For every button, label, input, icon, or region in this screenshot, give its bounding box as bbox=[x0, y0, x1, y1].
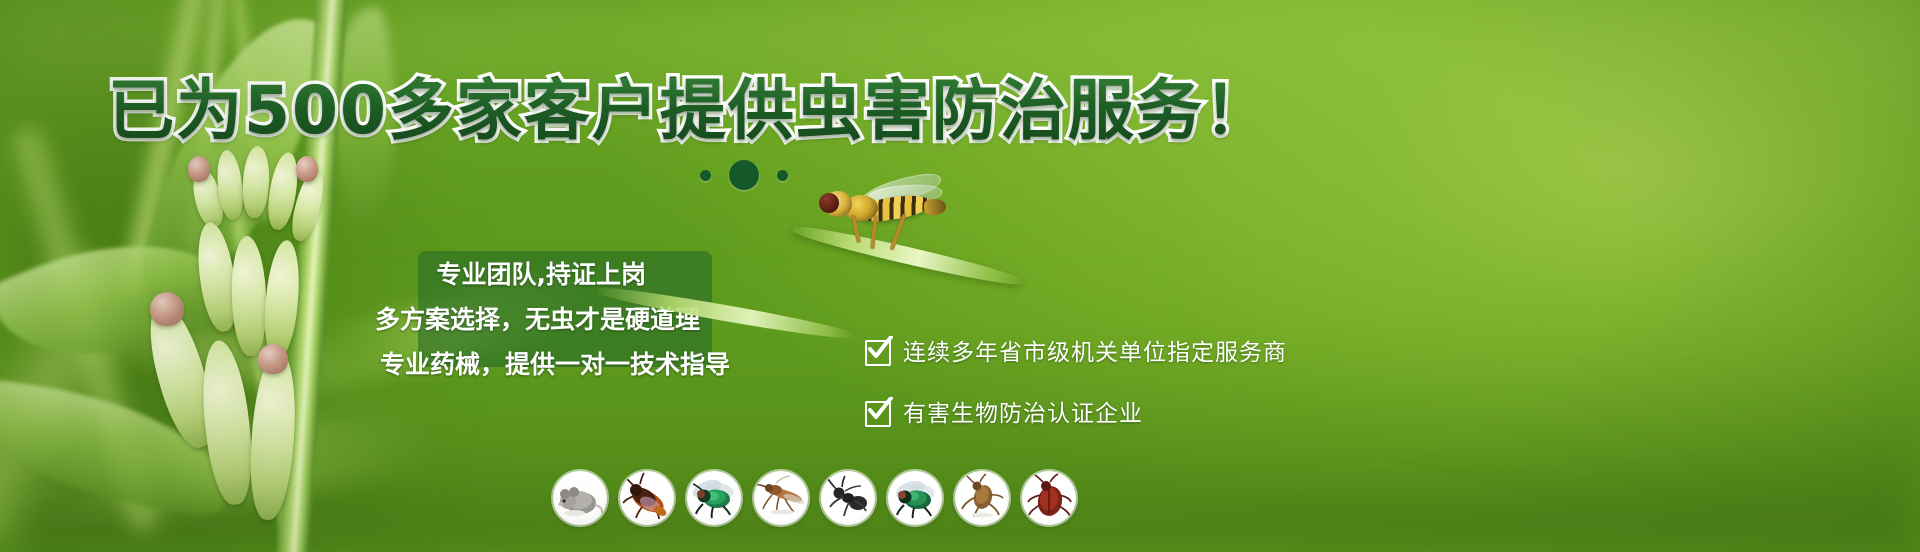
list-item: 有害生物防治认证企业 bbox=[865, 394, 1287, 428]
dot-small-icon bbox=[777, 170, 788, 181]
pest-icon-row bbox=[553, 471, 1076, 525]
ant-icon bbox=[821, 471, 875, 525]
feature-line-1: 专业团队,持证上岗 bbox=[437, 255, 731, 291]
credentials-list: 连续多年省市级机关单位指定服务商 有害生物防治认证企业 bbox=[865, 333, 1287, 428]
dot-small-icon bbox=[700, 170, 711, 181]
cockroach-icon bbox=[620, 471, 674, 525]
credential-label: 有害生物防治认证企业 bbox=[903, 394, 1143, 428]
pest-control-banner: 已为500多家客户提供虫害防治服务！ 已为500多家客户提供虫害防治服务！ 专业… bbox=[0, 0, 1920, 552]
feature-line-3: 专业药械，提供一对一技术指导 bbox=[380, 345, 730, 381]
bedbug-icon bbox=[1022, 471, 1076, 525]
blowfly-icon bbox=[888, 471, 942, 525]
check-box-icon bbox=[865, 399, 890, 424]
housefly-icon bbox=[687, 471, 741, 525]
mouse-icon bbox=[553, 471, 607, 525]
mosquito-icon bbox=[754, 471, 808, 525]
decorative-dots bbox=[700, 160, 788, 190]
page-title: 已为500多家客户提供虫害防治服务！ bbox=[0, 78, 1380, 144]
feature-panel-text: 专业团队,持证上岗 多方案选择，无虫才是硬道理 专业药械，提供一对一技术指导 bbox=[300, 255, 730, 381]
list-item: 连续多年省市级机关单位指定服务商 bbox=[865, 333, 1287, 367]
flea-icon bbox=[955, 471, 1009, 525]
dot-large-icon bbox=[729, 160, 759, 190]
check-box-icon bbox=[865, 338, 890, 363]
credential-label: 连续多年省市级机关单位指定服务商 bbox=[903, 333, 1287, 367]
hoverfly-illustration bbox=[810, 185, 990, 275]
